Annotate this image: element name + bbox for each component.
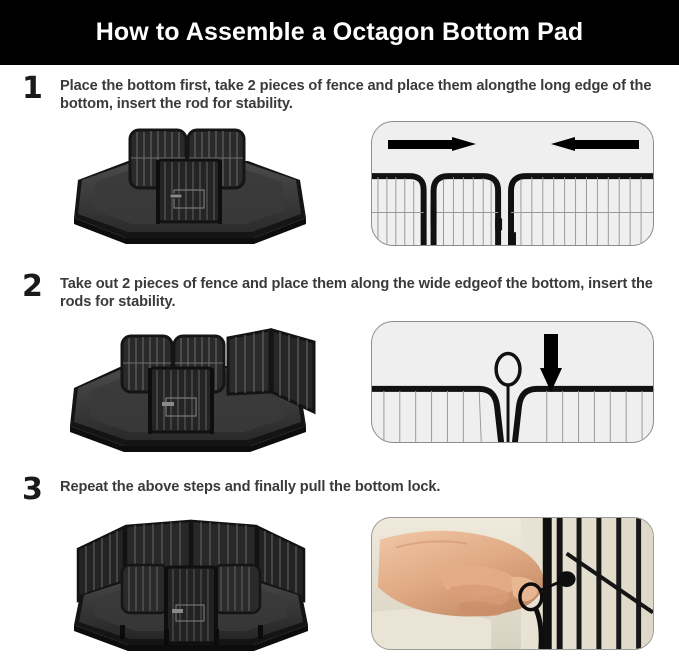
step-1: 1 Place the bottom first, take 2 pieces … <box>0 65 679 263</box>
step-3: 3 Repeat the above steps and finally pul… <box>0 466 679 662</box>
step-3-photo-panel <box>371 517 654 650</box>
step-1-number: 1 <box>22 73 60 105</box>
step-1-figures <box>0 114 679 263</box>
octagon-pad-four-panels-svg <box>18 316 358 466</box>
step-3-header: 3 Repeat the above steps and finally pul… <box>0 466 679 506</box>
arrow-left-icon <box>551 137 639 150</box>
step-3-instruction: Repeat the above steps and finally pull … <box>60 474 440 496</box>
step-1-detail-panel <box>371 121 654 246</box>
hand-pulling-lock-photo-svg <box>372 518 653 649</box>
step-2-instruction: Take out 2 pieces of fence and place the… <box>60 271 659 312</box>
step-2-detail-panel <box>371 321 654 443</box>
step-1-header: 1 Place the bottom first, take 2 pieces … <box>0 65 679 114</box>
step-1-detail-figure <box>368 118 667 246</box>
page-title: How to Assemble a Octagon Bottom Pad <box>96 18 583 47</box>
steps-area: 1 Place the bottom first, take 2 pieces … <box>0 65 679 661</box>
step-3-product-illustration <box>18 509 358 661</box>
step-3-figures <box>0 505 679 661</box>
step-3-detail-figure <box>368 509 667 650</box>
assembled-octagon-pen-svg <box>18 509 358 661</box>
step-2-figures <box>0 312 679 466</box>
rod-insertion-closeup-svg <box>372 322 653 442</box>
arrow-down-icon <box>540 334 562 392</box>
arrow-right-icon <box>388 137 476 150</box>
step-2: 2 Take out 2 pieces of fence and place t… <box>0 263 679 466</box>
step-2-detail-figure <box>368 316 667 443</box>
octagon-pad-two-panels-svg <box>18 118 358 263</box>
step-1-instruction: Place the bottom first, take 2 pieces of… <box>60 73 659 114</box>
step-2-header: 2 Take out 2 pieces of fence and place t… <box>0 263 679 312</box>
step-2-product-illustration <box>18 316 358 466</box>
step-2-number: 2 <box>22 271 60 303</box>
header-bar: How to Assemble a Octagon Bottom Pad <box>0 0 679 65</box>
step-1-product-illustration <box>18 118 358 263</box>
step-3-number: 3 <box>22 474 60 506</box>
